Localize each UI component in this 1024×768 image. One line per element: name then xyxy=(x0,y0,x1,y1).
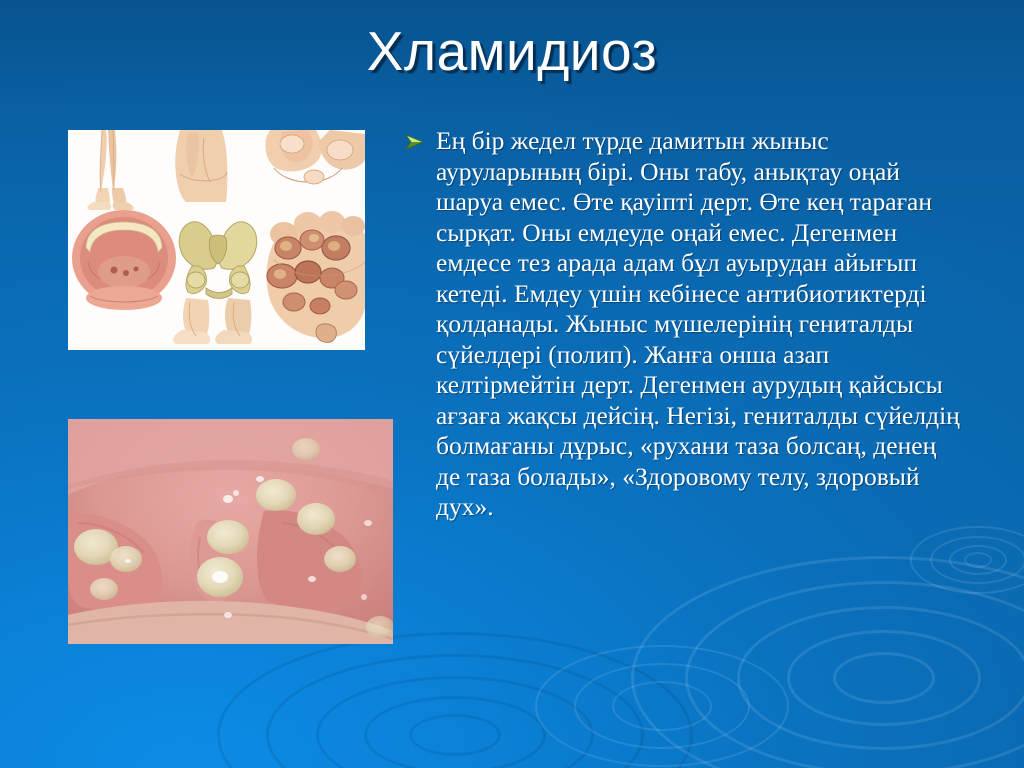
throat-clinical-photo xyxy=(68,419,393,644)
content-text-block: Ең бір жедел түрде дамитын жыныс аурулар… xyxy=(404,126,964,523)
ripple-ring xyxy=(685,581,1024,768)
ripple-ring xyxy=(574,663,750,749)
ripple-ring xyxy=(949,545,1007,575)
ripple-ring xyxy=(535,645,789,767)
ripple-ring xyxy=(833,652,935,704)
ripple-ring xyxy=(266,654,644,768)
ripple-ring xyxy=(631,556,1024,768)
ripple-ring xyxy=(964,552,992,568)
throat-photo-artwork xyxy=(68,419,393,644)
ripple-ring xyxy=(737,606,1024,750)
ripple-ring xyxy=(364,696,546,768)
ripple-ring xyxy=(930,536,1024,584)
slide-title: Хламидиоз xyxy=(0,20,1024,82)
ripple-ring xyxy=(787,630,981,726)
ripple-ring xyxy=(910,526,1024,594)
ripple-ring xyxy=(316,676,594,768)
ripple-ring xyxy=(612,681,712,731)
presentation-slide: Хламидиоз xyxy=(0,0,1024,768)
open-mouth-figure xyxy=(72,210,176,310)
bullet-list-item: Ең бір жедел түрде дамитын жыныс аурулар… xyxy=(404,126,964,523)
medical-illustration-image xyxy=(68,130,365,350)
illustration-artwork xyxy=(68,130,365,350)
arrow-bullet-icon xyxy=(404,126,436,151)
torso-figure xyxy=(175,130,227,202)
ripple-ring xyxy=(217,632,693,768)
ripple-ring xyxy=(409,714,501,756)
bullet-paragraph-text: Ең бір жедел түрде дамитын жыныс аурулар… xyxy=(436,126,964,523)
